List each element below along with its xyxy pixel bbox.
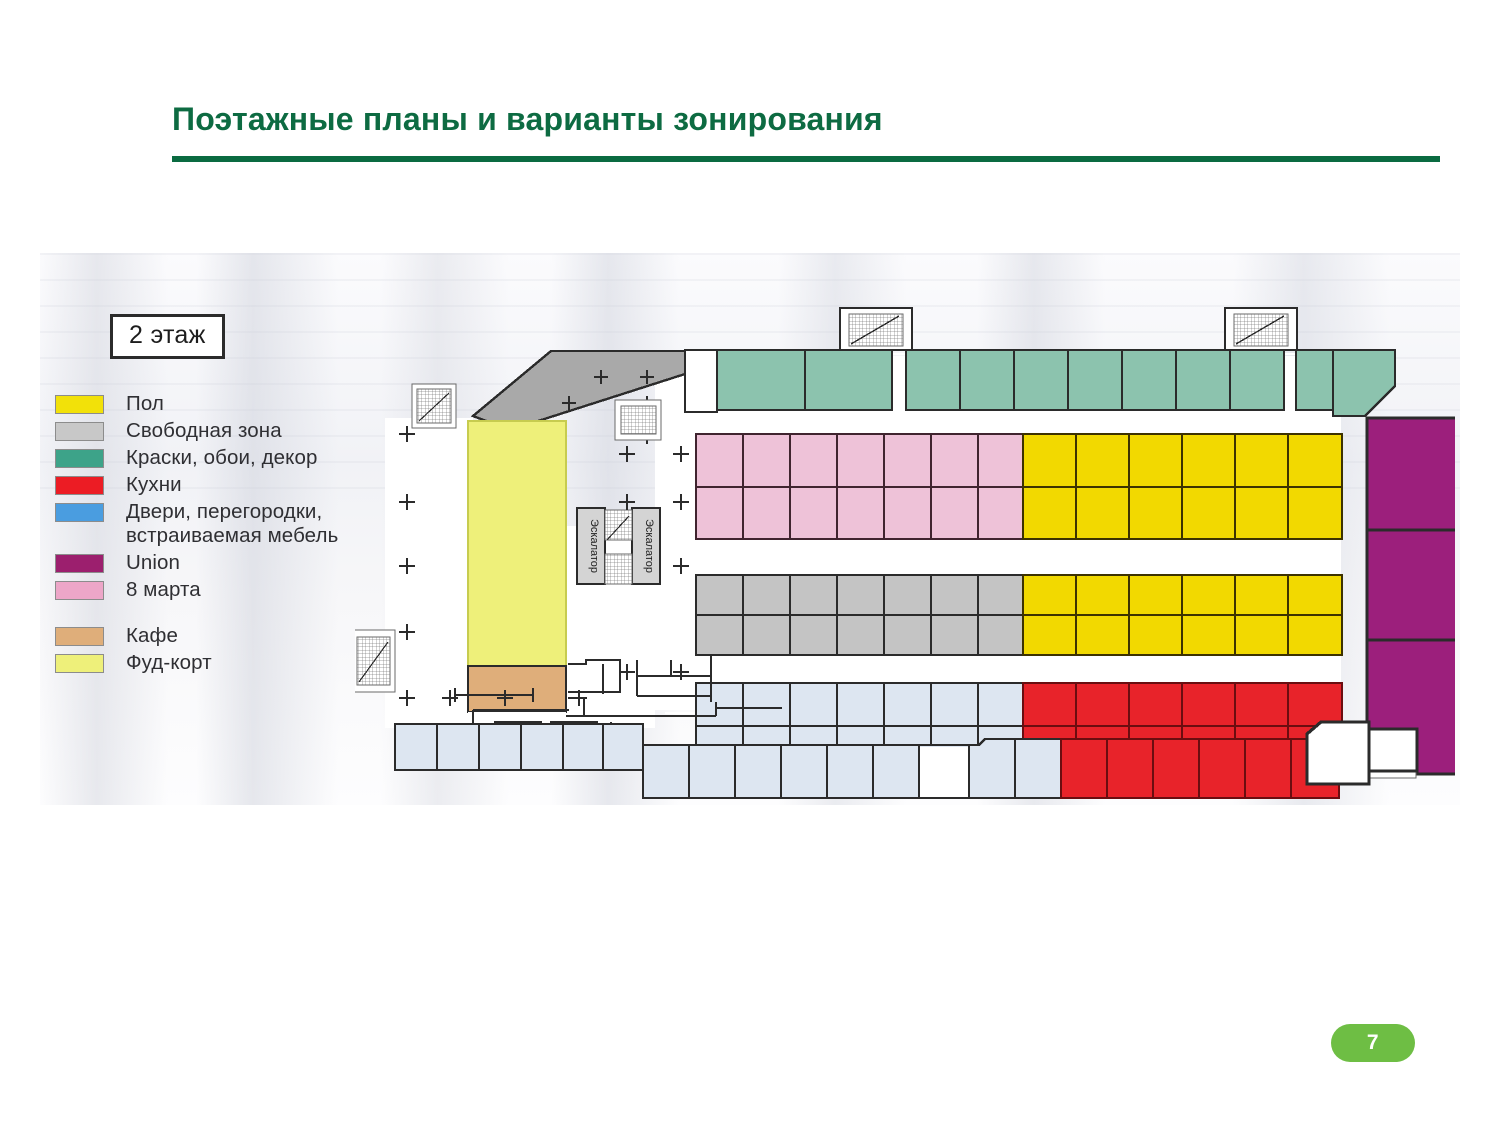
service-core-right [615,400,661,440]
legend-label-cafe: Кафе [126,624,178,648]
zone-row-march8-and-floor [696,434,1342,539]
legend-swatch-paint-decor [55,449,104,468]
legend-item-free-zone: Свободная зона [55,419,365,443]
legend: Пол Свободная зона Краски, обои, декор К… [55,392,365,678]
floor-label-badge: 2 этаж [110,314,225,359]
entrance-vestibule [685,350,717,412]
legend-label-union: Union [126,551,180,575]
legend-label-pol: Пол [126,392,164,416]
legend-label-paint-decor: Краски, обои, декор [126,446,317,470]
legend-swatch-union [55,554,104,573]
legend-item-kitchens: Кухни [55,473,365,497]
legend-swatch-food-court [55,654,104,673]
legend-item-union: Union [55,551,365,575]
legend-swatch-cafe [55,627,104,646]
stair-symbol-top-right [1225,308,1297,350]
stair-core-left [412,384,456,428]
legend-label-8-marta: 8 марта [126,578,201,602]
legend-swatch-kitchens [55,476,104,495]
legend-item-pol: Пол [55,392,365,416]
zone-row-doors-bottom [643,739,1061,798]
legend-label-doors: Двери, перегородки, встраиваемая мебель [126,500,338,548]
legend-swatch-doors [55,503,104,522]
zone-cafe [468,666,566,712]
zone-row-free-and-floor [696,575,1342,655]
legend-item-8-marta: 8 марта [55,578,365,602]
legend-swatch-pol [55,395,104,414]
legend-item-food-court: Фуд-корт [55,651,365,675]
stair-core-bottom-left [355,630,395,692]
legend-item-doors: Двери, перегородки, встраиваемая мебель [55,500,365,548]
escalator-left: Эскалатор [577,508,605,584]
legend-item-cafe: Кафе [55,624,365,648]
floorplan-drawing: Эскалатор Эскалатор [355,258,1455,803]
zone-row-doors-bottom-left [395,724,643,770]
page-title: Поэтажные планы и варианты зонирования [172,101,883,138]
escalator-right-label: Эскалатор [643,519,655,573]
legend-item-paint-decor: Краски, обои, декор [55,446,365,470]
legend-swatch-8-marta [55,581,104,600]
legend-swatch-free-zone [55,422,104,441]
stair-symbol-top-left [840,308,912,350]
zone-row-kitchens-bottom [1061,739,1339,798]
legend-label-kitchens: Кухни [126,473,182,497]
legend-label-food-court: Фуд-корт [126,651,212,675]
title-underline-rule [172,156,1440,162]
zone-food-court [468,421,566,666]
legend-label-free-zone: Свободная зона [126,419,282,443]
escalator-left-label: Эскалатор [588,519,600,573]
escalator-right: Эскалатор [632,508,660,584]
page-number-badge: 7 [1331,1024,1415,1062]
